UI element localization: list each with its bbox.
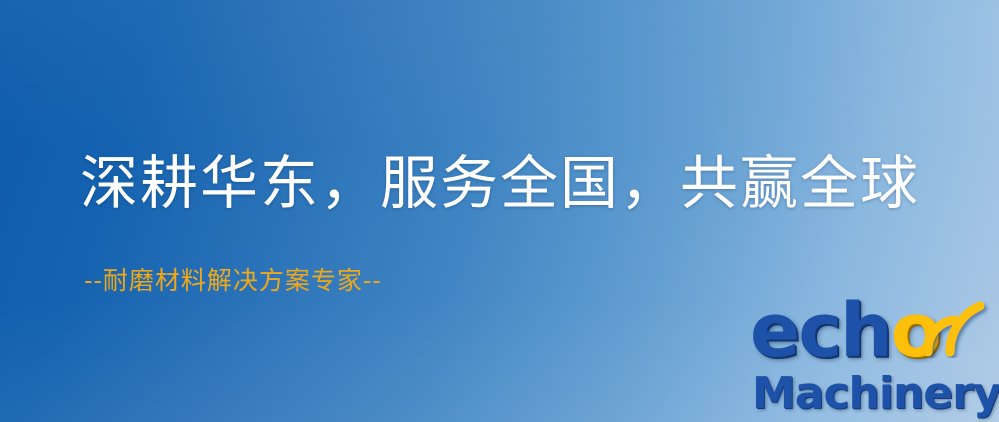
logo-subword: Machinery®: [752, 372, 999, 416]
echo-waves-icon: [920, 296, 998, 358]
promo-banner: 深耕华东，服务全国，共赢全球 --耐磨材料解决方案专家-- echo Machi…: [0, 0, 999, 422]
echo-machinery-logo: echo Machinery®: [748, 296, 999, 422]
logo-wordmark: echo: [750, 294, 940, 368]
logo-subword-text: Machinery: [752, 368, 999, 419]
banner-headline: 深耕华东，服务全国，共赢全球: [80, 152, 920, 215]
banner-subtitle: --耐磨材料解决方案专家--: [84, 266, 382, 296]
logo-word-ech: ech: [750, 288, 891, 374]
